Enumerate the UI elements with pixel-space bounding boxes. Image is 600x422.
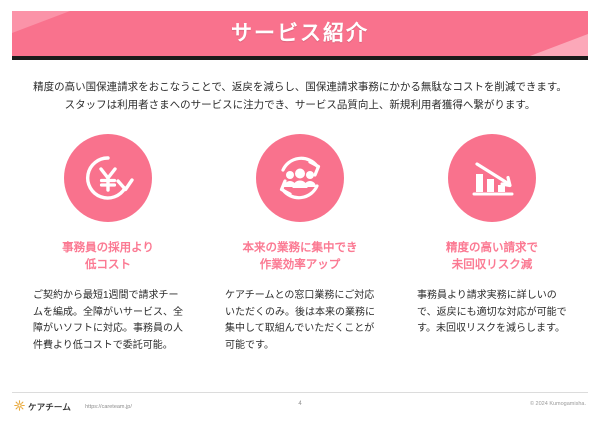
- feature-column-cost: 事務員の採用より 低コスト ご契約から最短1週間で請求チームを編成。全障がいサー…: [24, 134, 192, 354]
- yen-refresh-down-icon: [80, 150, 136, 206]
- declining-bar-chart-icon: [464, 150, 520, 206]
- banner-underline: [12, 56, 588, 60]
- feature-heading-risk: 精度の高い請求で 未回収リスク減: [446, 240, 538, 274]
- icon-circle-cost: [64, 134, 152, 222]
- icon-circle-risk: [448, 134, 536, 222]
- footer: ケアチーム https://careteam.jp/ 4 © 2024 Kumo…: [12, 396, 588, 416]
- banner-background: サービス紹介: [12, 11, 588, 56]
- feature-heading-efficiency-line1: 本来の業務に集中でき: [243, 240, 358, 257]
- feature-column-efficiency: 本来の業務に集中でき 作業効率アップ ケアチームとの窓口業務にご対応いただくのみ…: [216, 134, 384, 354]
- header-banner: サービス紹介: [12, 11, 588, 61]
- intro-line-2: スタッフは利用者さまへのサービスに注力でき、サービス品質向上、新規利用者獲得へ繋…: [30, 96, 570, 114]
- intro-line-1: 精度の高い国保連請求をおこなうことで、返戻を減らし、国保連請求事務にかかる無駄な…: [30, 78, 570, 96]
- icon-circle-efficiency: [256, 134, 344, 222]
- feature-heading-cost: 事務員の採用より 低コスト: [62, 240, 154, 274]
- footer-page-number: 4: [12, 401, 588, 407]
- feature-columns: 事務員の採用より 低コスト ご契約から最短1週間で請求チームを編成。全障がいサー…: [24, 134, 576, 354]
- feature-body-cost: ご契約から最短1週間で請求チームを編成。全障がいサービス、全障がいソフトに対応。…: [33, 288, 183, 354]
- feature-body-efficiency: ケアチームとの窓口業務にご対応いただくのみ。後は本来の業務に集中して取組んでいた…: [225, 288, 375, 354]
- footer-copyright: © 2024 Kumogamisha.: [530, 401, 586, 407]
- feature-column-risk: 精度の高い請求で 未回収リスク減 事務員より請求実務に詳しいので、返戻にも適切な…: [408, 134, 576, 354]
- slide-canvas: サービス紹介 精度の高い国保連請求をおこなうことで、返戻を減らし、国保連請求事務…: [0, 0, 600, 422]
- feature-heading-cost-line2: 低コスト: [62, 257, 154, 274]
- intro-text: 精度の高い国保連請求をおこなうことで、返戻を減らし、国保連請求事務にかかる無駄な…: [30, 78, 570, 114]
- feature-heading-risk-line1: 精度の高い請求で: [446, 240, 538, 257]
- page-title: サービス紹介: [12, 11, 588, 56]
- feature-body-risk: 事務員より請求実務に詳しいので、返戻にも適切な対応が可能です。未回収リスクを減ら…: [417, 288, 567, 338]
- people-cycle-icon: [272, 150, 328, 206]
- feature-heading-efficiency-line2: 作業効率アップ: [243, 257, 358, 274]
- footer-divider: [12, 392, 588, 393]
- feature-heading-efficiency: 本来の業務に集中でき 作業効率アップ: [243, 240, 358, 274]
- feature-heading-cost-line1: 事務員の採用より: [62, 240, 154, 257]
- feature-heading-risk-line2: 未回収リスク減: [446, 257, 538, 274]
